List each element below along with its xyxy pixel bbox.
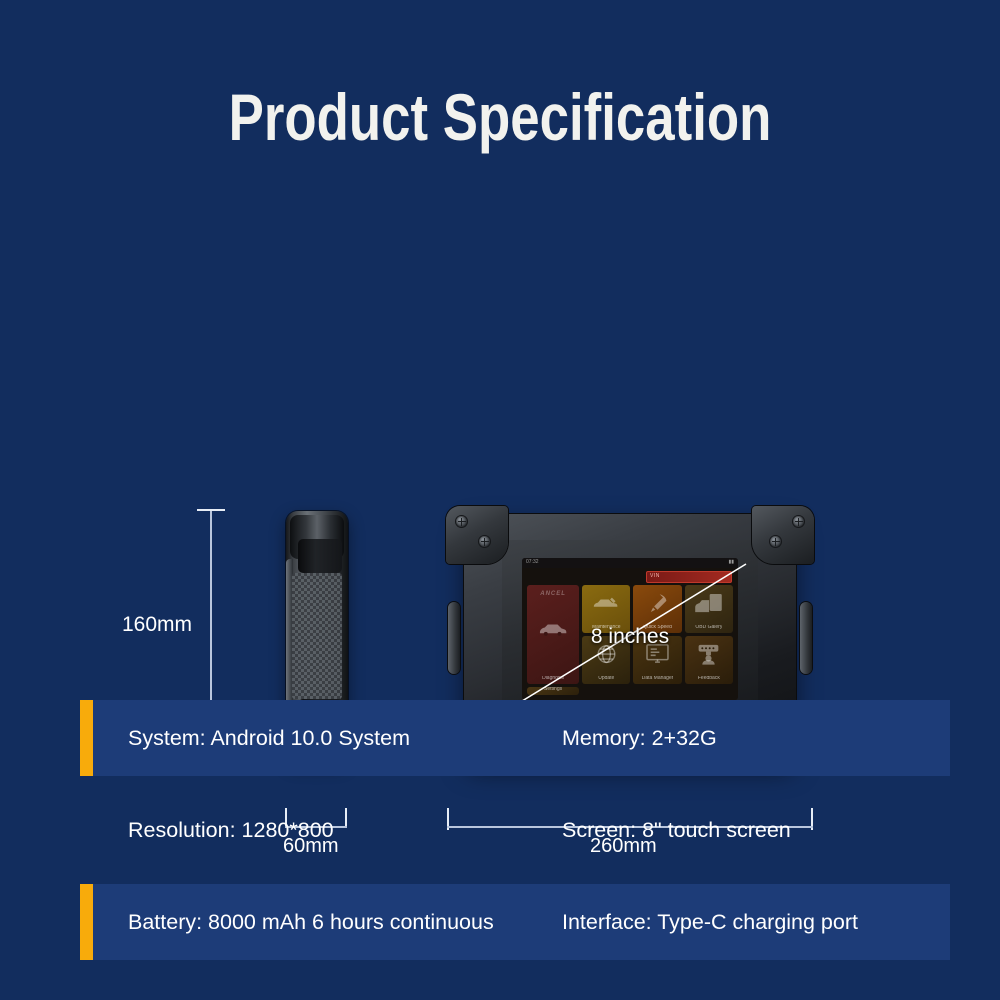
spec-memory: Memory: 2+32G: [562, 726, 717, 751]
height-dimension-cap-top: [197, 509, 225, 511]
side-view-top-inset: [298, 539, 342, 573]
spec-row: Battery: 8000 mAh 6 hours continuous Int…: [0, 884, 1000, 960]
rocket-icon: [633, 585, 681, 622]
spec-interface: Interface: Type-C charging port: [562, 910, 858, 935]
device-corner-top-right: [752, 506, 814, 564]
app-tile-label: Diagnosis: [542, 676, 564, 681]
app-tile-label: Feedback: [698, 676, 720, 681]
height-dimension-label: 160mm: [122, 613, 192, 637]
side-view-grip-texture: [292, 573, 342, 699]
spec-row-spacer: [0, 868, 1000, 884]
car-service-icon: [582, 585, 630, 622]
vin-search-placeholder: VIN: [650, 573, 660, 579]
screen-vin-search-bar[interactable]: VIN: [646, 571, 732, 583]
page-title: Product Specification: [100, 84, 900, 150]
spec-row: Resolution: 1280*800 Screen: 8" touch sc…: [0, 792, 1000, 868]
app-tile-label: Data Manager: [642, 676, 674, 681]
specification-list: System: Android 10.0 System Memory: 2+32…: [0, 700, 1000, 960]
spec-battery: Battery: 8000 mAh 6 hours continuous: [128, 910, 562, 935]
app-tile-settings[interactable]: Settings: [527, 687, 579, 695]
screw-icon: [479, 536, 490, 547]
spec-screen: Screen: 8" touch screen: [562, 818, 791, 843]
screw-icon: [793, 516, 804, 527]
status-time: 07:32: [526, 559, 539, 565]
status-icons: ▮▮: [728, 559, 734, 565]
spec-system: System: Android 10.0 System: [128, 726, 562, 751]
screw-icon: [456, 516, 467, 527]
product-specification-page: Product Specification 160mm 60mm: [0, 0, 1000, 1000]
app-tile-label: Settings: [544, 687, 562, 692]
spec-row: System: Android 10.0 System Memory: 2+32…: [0, 700, 1000, 776]
spec-row-spacer: [0, 776, 1000, 792]
product-diagram: 160mm 60mm 260mm: [0, 230, 1000, 650]
app-tile-label: Update: [598, 676, 614, 681]
device-corner-top-left: [446, 506, 508, 564]
car-report-icon: [685, 585, 733, 622]
screen-status-bar: 07:32 ▮▮: [522, 558, 738, 568]
screw-icon: [770, 536, 781, 547]
screen-diagonal-label: 8 inches: [446, 625, 814, 649]
spec-resolution: Resolution: 1280*800: [128, 818, 562, 843]
